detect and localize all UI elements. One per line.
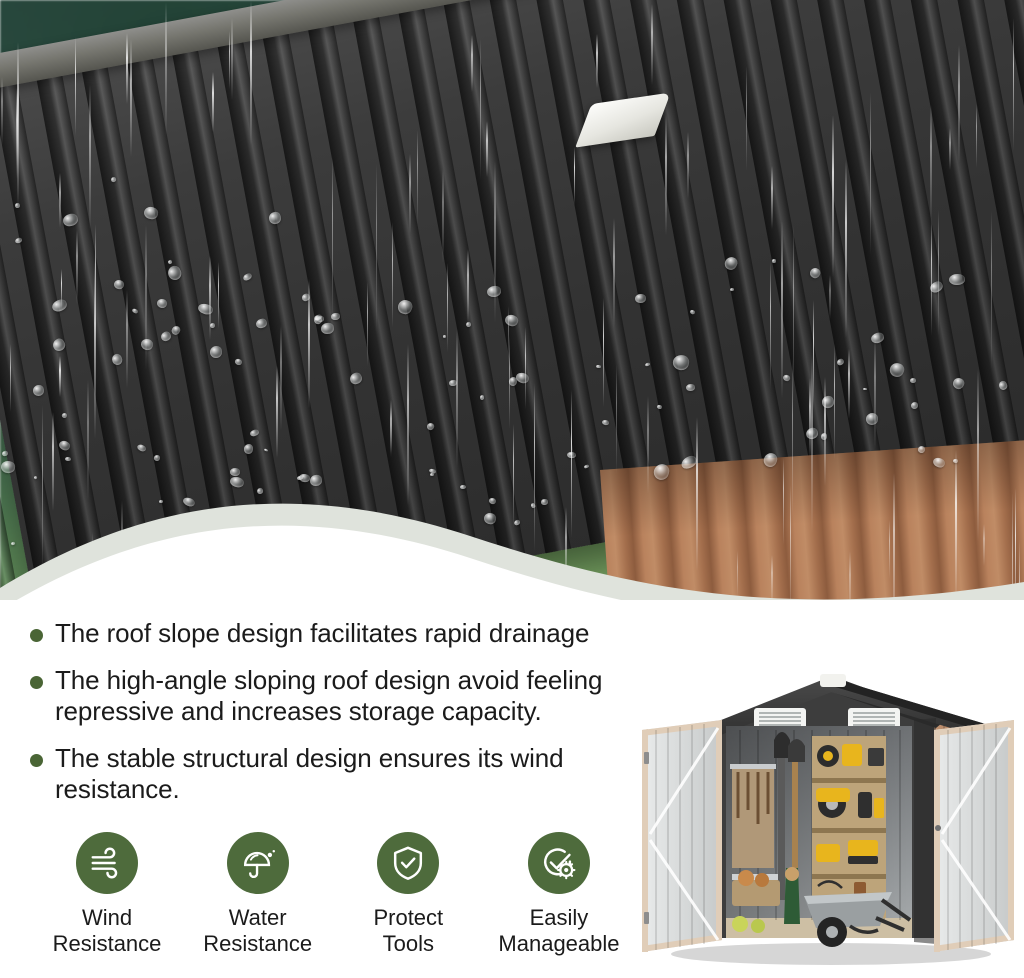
rain-streak: [209, 256, 211, 340]
rain-streak: [126, 33, 128, 104]
feature-label-line1: Water: [189, 905, 327, 931]
rain-streak: [442, 169, 444, 262]
rain-streak: [770, 262, 772, 389]
feature-wind-resistance: Wind Resistance: [38, 832, 176, 957]
rain-streak: [651, 4, 653, 85]
rain-streak: [165, 2, 167, 138]
bullet-dot-icon: [30, 676, 43, 689]
rain-streak: [991, 211, 993, 369]
rain-streak: [931, 218, 933, 336]
rain-streak: [89, 85, 91, 231]
feature-icon-row: Wind Resistance Water Resistance: [38, 832, 628, 957]
rain-streak: [145, 225, 147, 370]
rain-streak: [308, 279, 310, 409]
rain-streak: [1013, 18, 1015, 151]
feature-label-line2: Resistance: [38, 931, 176, 957]
shed-door-right[interactable]: [914, 718, 1014, 952]
rain-streak: [447, 263, 449, 352]
list-item: The high-angle sloping roof design avoid…: [30, 665, 650, 727]
rain-streak: [949, 128, 951, 170]
rain-streak: [958, 45, 960, 162]
rain-streak: [832, 115, 834, 277]
feature-label-line1: Wind: [38, 905, 176, 931]
rain-streak: [126, 290, 128, 388]
list-item: The roof slope design facilitates rapid …: [30, 618, 650, 649]
shelf: [812, 828, 886, 833]
water-droplet: [772, 259, 776, 263]
rain-streak: [829, 275, 831, 319]
feature-protect-tools: Protect Tools: [339, 832, 477, 957]
rain-streak: [409, 154, 411, 235]
rain-streak: [229, 31, 231, 89]
feature-label-line1: Easily: [490, 905, 628, 931]
rain-streak: [613, 218, 615, 328]
rain-streak: [10, 344, 12, 412]
rain-streak: [16, 88, 18, 179]
rain-streak: [746, 66, 748, 171]
door-hinge: [644, 912, 649, 924]
rain-streak: [574, 147, 576, 204]
bullet-text: The high-angle sloping roof design avoid…: [55, 665, 650, 727]
rain-streak: [376, 164, 378, 333]
shed-door-left[interactable]: [642, 720, 722, 952]
rain-streak: [494, 161, 496, 324]
rain-streak: [603, 298, 605, 407]
list-item: The stable structural design ensures its…: [30, 743, 650, 805]
water-droplet: [320, 322, 334, 335]
rain-streak: [781, 221, 783, 399]
rain-streak: [687, 132, 689, 199]
bullet-dot-icon: [30, 629, 43, 642]
rain-streak: [509, 336, 511, 430]
water-droplet: [911, 402, 918, 409]
rain-streak: [930, 105, 932, 223]
rain-streak: [95, 224, 97, 338]
feature-label-line2: Tools: [339, 931, 477, 957]
feature-water-resistance: Water Resistance: [189, 832, 327, 957]
bullet-text: The stable structural design ensures its…: [55, 743, 650, 805]
rain-streak: [480, 39, 482, 180]
rain-streak: [332, 156, 334, 321]
rain-streak: [456, 329, 458, 468]
bullet-dot-icon: [30, 754, 43, 767]
feature-icon-badge: [227, 832, 289, 894]
rain-streak: [471, 35, 473, 92]
rain-streak: [250, 1, 252, 145]
rain-streak: [467, 249, 469, 323]
feature-label-line1: Protect: [339, 905, 477, 931]
feature-label-line2: Manageable: [490, 931, 628, 957]
rain-streak: [596, 34, 598, 88]
door-hinge: [644, 752, 649, 764]
feature-icon-badge: [76, 832, 138, 894]
bullet-list: The roof slope design facilitates rapid …: [30, 618, 650, 821]
rain-streak: [616, 364, 618, 475]
door-handle[interactable]: [935, 825, 941, 831]
feature-icon-badge: [377, 832, 439, 894]
rain-streak: [392, 222, 394, 327]
rain-streak: [870, 92, 872, 255]
rain-streak: [976, 104, 978, 167]
rain-streak: [231, 18, 233, 100]
rain-streak: [130, 39, 132, 157]
check-gear-icon: [540, 844, 578, 882]
rain-streak: [75, 37, 77, 137]
rain-streak: [76, 230, 78, 304]
rain-streak: [1, 77, 3, 146]
water-droplet: [210, 345, 222, 357]
wind-icon: [88, 844, 126, 882]
feature-icon-badge: [528, 832, 590, 894]
rain-streak: [813, 300, 815, 410]
shelf: [812, 778, 886, 783]
rain-streak: [280, 325, 282, 431]
shield-check-icon: [389, 844, 427, 882]
shelf: [812, 874, 886, 879]
water-droplet: [65, 456, 71, 461]
feature-easily-manageable: Easily Manageable: [490, 832, 628, 957]
rain-streak: [525, 327, 527, 408]
rain-streak: [845, 160, 847, 338]
bullet-text: The roof slope design facilitates rapid …: [55, 618, 589, 649]
rain-streak: [809, 378, 811, 458]
rain-streak: [367, 282, 369, 367]
rain-streak: [834, 344, 836, 459]
rain-streak: [212, 72, 214, 132]
rain-streak: [771, 166, 773, 229]
rain-streak: [59, 356, 61, 398]
water-droplet: [949, 274, 965, 285]
product-photo-shed: [636, 668, 1024, 968]
umbrella-icon: [239, 844, 277, 882]
rain-streak: [61, 269, 63, 310]
rain-streak: [276, 366, 278, 458]
rain-streak: [874, 338, 876, 449]
product-feature-panel: The roof slope design facilitates rapid …: [0, 0, 1024, 978]
rain-streak: [938, 210, 940, 336]
rain-streak: [218, 262, 220, 328]
water-droplet: [480, 395, 485, 400]
rain-streak: [390, 407, 392, 458]
shed-ridge-cap: [820, 674, 846, 687]
feature-label-line2: Resistance: [189, 931, 327, 957]
rain-streak: [848, 349, 850, 419]
rain-streak: [59, 173, 61, 228]
rain-streak: [486, 121, 488, 177]
rain-streak: [417, 130, 419, 226]
rain-streak: [665, 115, 667, 235]
cart-top: [785, 867, 799, 881]
